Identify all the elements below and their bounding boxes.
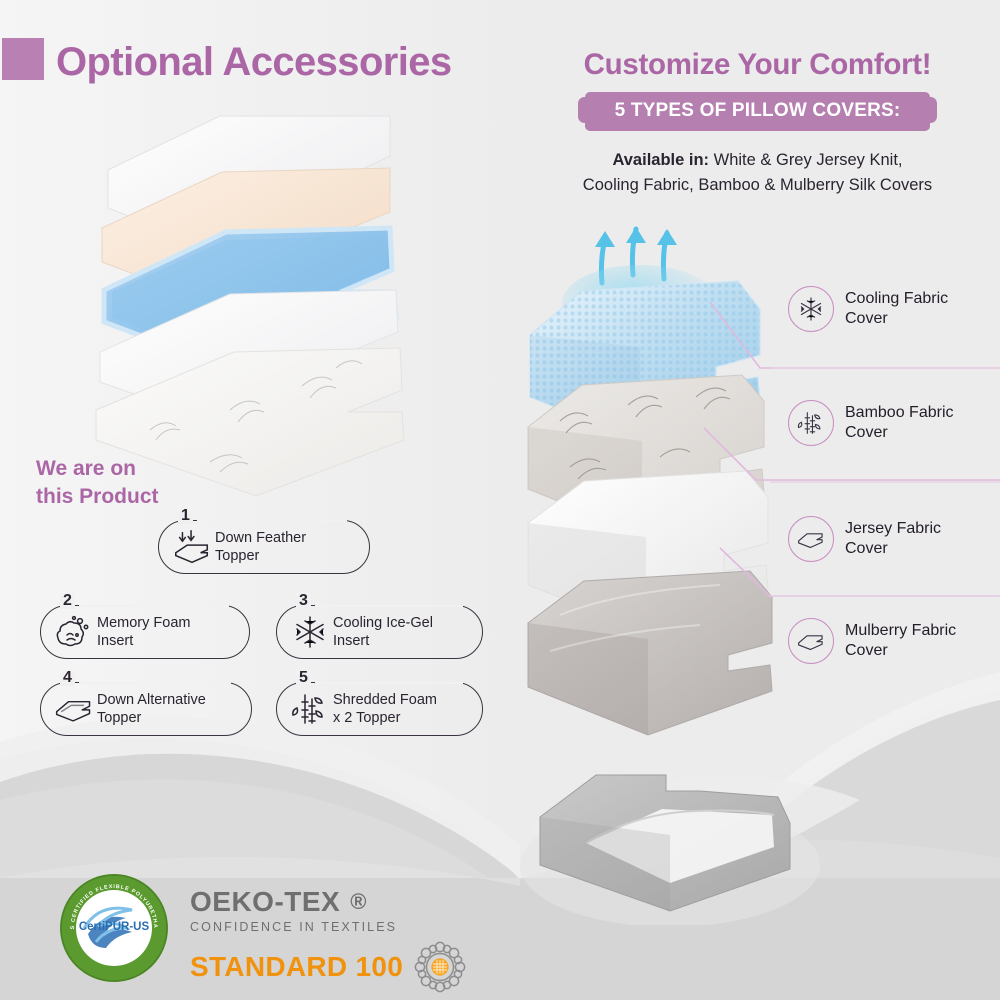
- available-in-value: White & Grey Jersey Knit,: [709, 151, 902, 169]
- page-title-right: Customize Your Comfort!: [515, 48, 1000, 82]
- accessory-badge-2[interactable]: 2 Memory Foam Insert: [40, 605, 250, 659]
- accessory-badge-5[interactable]: 5 Shredded Foam x 2 Topper: [276, 682, 483, 736]
- oeko-tex-flower-icon: [413, 940, 467, 994]
- exploded-product-stack: [90, 110, 510, 500]
- oeko-tex-subtitle: CONFIDENCE IN TEXTILES: [190, 916, 520, 940]
- accessory-badge-3[interactable]: 3 Cooling Ice-Gel Insert: [276, 605, 483, 659]
- badge-label: Down Feather Topper: [213, 529, 306, 565]
- oeko-tex-standard: STANDARD 100: [190, 952, 403, 981]
- accessory-badge-1[interactable]: 1 Down Feather Topper: [158, 520, 370, 574]
- memory-foam-icon: [53, 613, 95, 651]
- infographic-canvas: Optional Accessories: [0, 0, 1000, 1000]
- badge-number: 5: [296, 670, 311, 686]
- page-title-left: Optional Accessories: [56, 40, 452, 85]
- badge-number: 2: [60, 593, 75, 609]
- left-panel: Optional Accessories: [0, 0, 515, 880]
- ribbon-label: 5 TYPES OF PILLOW COVERS:: [585, 92, 931, 131]
- oeko-tex-badge: OEKO-TEX ® CONFIDENCE IN TEXTILES STANDA…: [190, 888, 520, 974]
- badge-number: 1: [178, 508, 193, 524]
- badge-label: Memory Foam Insert: [95, 614, 190, 650]
- badge-label: Cooling Ice-Gel Insert: [331, 614, 433, 650]
- registered-mark: ®: [350, 891, 367, 913]
- cooling-arrow-heads: [595, 227, 677, 247]
- snowflake-icon: [289, 613, 331, 651]
- pillow-outline-icon: [53, 690, 95, 728]
- pillow-covers-ribbon: 5 TYPES OF PILLOW COVERS:: [515, 92, 1000, 131]
- accessory-badge-4[interactable]: 4 Down Alternative Topper: [40, 682, 252, 736]
- badge-number: 3: [296, 593, 311, 609]
- available-in-text: Available in: White & Grey Jersey Knit, …: [515, 148, 1000, 198]
- badge-label: Down Alternative Topper: [95, 691, 206, 727]
- bamboo-icon: [289, 690, 331, 728]
- certipur-us-badge: CertiPUR-US CONTAINS CERTIFIED FLEXIBLE …: [58, 872, 170, 984]
- badge-label: Shredded Foam x 2 Topper: [331, 691, 437, 727]
- badge-number: 4: [60, 670, 75, 686]
- legend-dividers: [770, 280, 1000, 700]
- available-in-prefix: Available in:: [612, 151, 709, 169]
- we-are-on-product-label: We are on this Product: [36, 455, 159, 512]
- available-in-line2: Cooling Fabric, Bamboo & Mulberry Silk C…: [583, 176, 932, 194]
- oeko-tex-title: OEKO-TEX: [190, 888, 340, 916]
- down-feather-pillow-icon: [171, 528, 213, 566]
- certipur-name: CertiPUR-US: [79, 921, 150, 933]
- title-accent-square: [2, 38, 44, 80]
- grey-jersey-cover-photo: [520, 775, 820, 925]
